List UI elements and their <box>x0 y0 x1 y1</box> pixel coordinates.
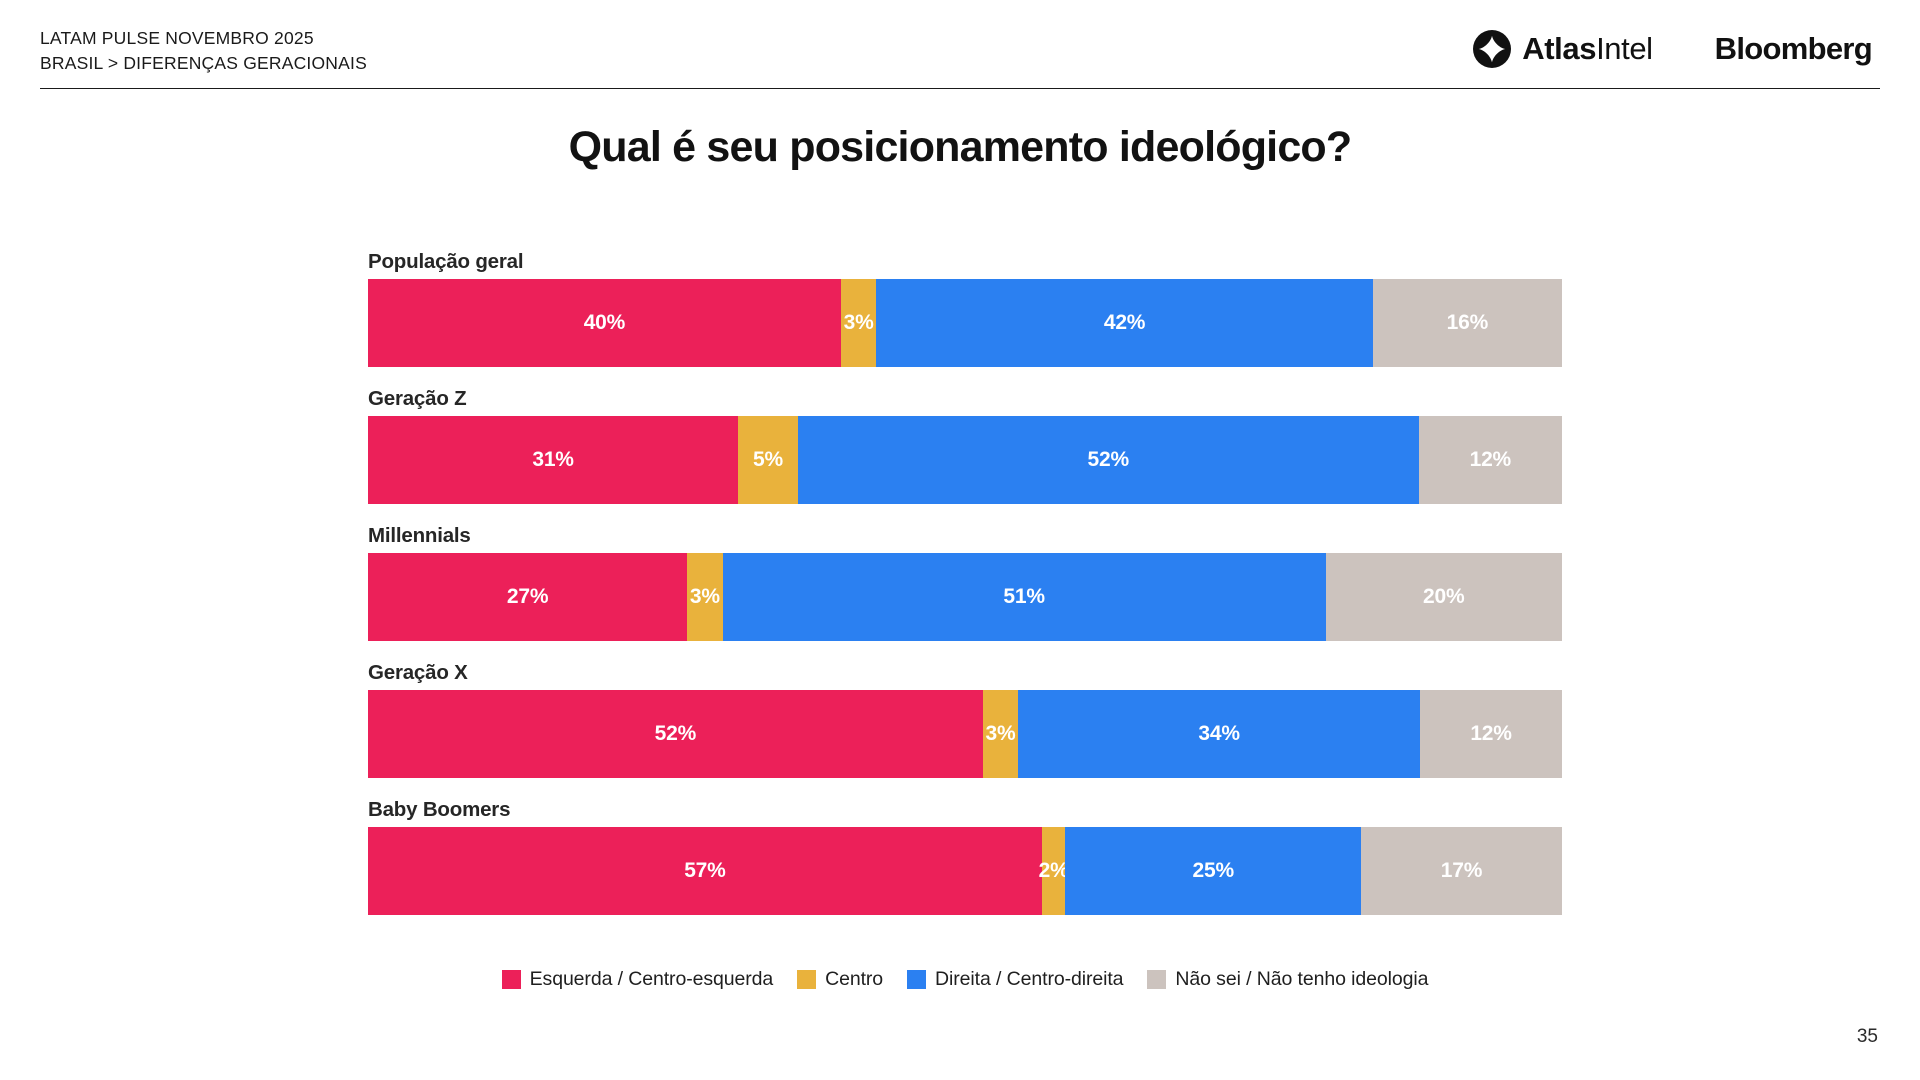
legend-label: Não sei / Não tenho ideologia <box>1175 968 1428 991</box>
bar-segment-value: 3% <box>985 722 1015 746</box>
page-title: Qual é seu posicionamento ideológico? <box>0 123 1920 172</box>
bar-group: Baby Boomers57%2%25%17% <box>368 798 1562 915</box>
bar-group: Geração Z31%5%52%12% <box>368 387 1562 504</box>
bar-segment[interactable]: 52% <box>798 416 1419 504</box>
legend-item[interactable]: Esquerda / Centro-esquerda <box>502 968 773 991</box>
bar-segment-value: 25% <box>1193 859 1234 883</box>
bar-segment-value: 16% <box>1447 311 1488 335</box>
bar-segment[interactable]: 31% <box>368 416 738 504</box>
bar-segment-value: 3% <box>690 585 720 609</box>
logo-group: AtlasIntel Bloomberg <box>1473 22 1880 68</box>
bar-segment-value: 20% <box>1423 585 1464 609</box>
bar-segment[interactable]: 3% <box>687 553 722 641</box>
bar-segment-value: 57% <box>684 859 725 883</box>
bar-segment-value: 51% <box>1003 585 1044 609</box>
legend-swatch <box>797 970 816 989</box>
stacked-bar: 27%3%51%20% <box>368 553 1562 641</box>
page-number: 35 <box>1857 1026 1878 1048</box>
bar-group-label: Millennials <box>368 524 1562 548</box>
bar-segment-value: 52% <box>1088 448 1129 472</box>
bar-segment-value: 27% <box>507 585 548 609</box>
bar-segment-value: 34% <box>1198 722 1239 746</box>
bar-group-label: Baby Boomers <box>368 798 1562 822</box>
bar-segment-value: 12% <box>1470 448 1511 472</box>
bar-segment[interactable]: 3% <box>983 690 1018 778</box>
bar-segment[interactable]: 51% <box>723 553 1326 641</box>
bar-segment[interactable]: 3% <box>841 279 876 367</box>
chart-legend: Esquerda / Centro-esquerdaCentroDireita … <box>368 968 1562 991</box>
slide: LATAM PULSE NOVEMBRO 2025 BRASIL > DIFER… <box>0 0 1920 1080</box>
legend-swatch <box>907 970 926 989</box>
legend-label: Esquerda / Centro-esquerda <box>530 968 773 991</box>
bar-segment[interactable]: 12% <box>1420 690 1562 778</box>
bar-segment-value: 42% <box>1104 311 1145 335</box>
bar-segment[interactable]: 27% <box>368 553 687 641</box>
atlasintel-logo: AtlasIntel <box>1473 30 1652 68</box>
stacked-bar: 31%5%52%12% <box>368 416 1562 504</box>
atlas-text: Atlas <box>1522 31 1596 66</box>
bar-segment[interactable]: 12% <box>1419 416 1562 504</box>
bar-segment[interactable]: 42% <box>876 279 1373 367</box>
legend-item[interactable]: Centro <box>797 968 883 991</box>
stacked-bar: 52%3%34%12% <box>368 690 1562 778</box>
breadcrumb-line-2: BRASIL > DIFERENÇAS GERACIONAIS <box>40 51 367 76</box>
bar-segment-value: 12% <box>1470 722 1511 746</box>
bar-group: Millennials27%3%51%20% <box>368 524 1562 641</box>
bar-segment-value: 17% <box>1441 859 1482 883</box>
bar-segment-value: 2% <box>1039 859 1069 883</box>
bar-group-label: Geração X <box>368 661 1562 685</box>
stacked-bar-chart: População geral40%3%42%16%Geração Z31%5%… <box>368 250 1562 935</box>
intel-text: Intel <box>1596 31 1653 66</box>
header-divider <box>40 88 1880 89</box>
bar-segment[interactable]: 34% <box>1018 690 1420 778</box>
slide-header: LATAM PULSE NOVEMBRO 2025 BRASIL > DIFER… <box>40 22 1880 84</box>
bar-segment[interactable]: 52% <box>368 690 983 778</box>
bar-segment[interactable]: 20% <box>1326 553 1562 641</box>
breadcrumb: LATAM PULSE NOVEMBRO 2025 BRASIL > DIFER… <box>40 22 367 76</box>
bar-segment[interactable]: 25% <box>1065 827 1361 915</box>
legend-item[interactable]: Direita / Centro-direita <box>907 968 1123 991</box>
legend-label: Direita / Centro-direita <box>935 968 1123 991</box>
bar-segment[interactable]: 16% <box>1373 279 1562 367</box>
legend-swatch <box>502 970 521 989</box>
bar-segment-value: 52% <box>655 722 696 746</box>
bar-segment[interactable]: 40% <box>368 279 841 367</box>
bar-segment-value: 40% <box>584 311 625 335</box>
breadcrumb-line-1: LATAM PULSE NOVEMBRO 2025 <box>40 26 367 51</box>
bar-segment[interactable]: 17% <box>1361 827 1562 915</box>
bar-group-label: População geral <box>368 250 1562 274</box>
bar-segment-value: 5% <box>753 448 783 472</box>
stacked-bar: 40%3%42%16% <box>368 279 1562 367</box>
atlasintel-wordmark: AtlasIntel <box>1522 31 1652 67</box>
bar-segment[interactable]: 5% <box>738 416 798 504</box>
bar-segment-value: 31% <box>532 448 573 472</box>
legend-label: Centro <box>825 968 883 991</box>
bloomberg-logo: Bloomberg <box>1715 31 1872 67</box>
bar-segment[interactable]: 57% <box>368 827 1042 915</box>
legend-item[interactable]: Não sei / Não tenho ideologia <box>1147 968 1428 991</box>
bar-segment-value: 3% <box>844 311 874 335</box>
legend-swatch <box>1147 970 1166 989</box>
bar-group: Geração X52%3%34%12% <box>368 661 1562 778</box>
bar-group: População geral40%3%42%16% <box>368 250 1562 367</box>
bar-segment[interactable]: 2% <box>1042 827 1066 915</box>
bar-group-label: Geração Z <box>368 387 1562 411</box>
atlasintel-diamond-icon <box>1473 30 1511 68</box>
stacked-bar: 57%2%25%17% <box>368 827 1562 915</box>
